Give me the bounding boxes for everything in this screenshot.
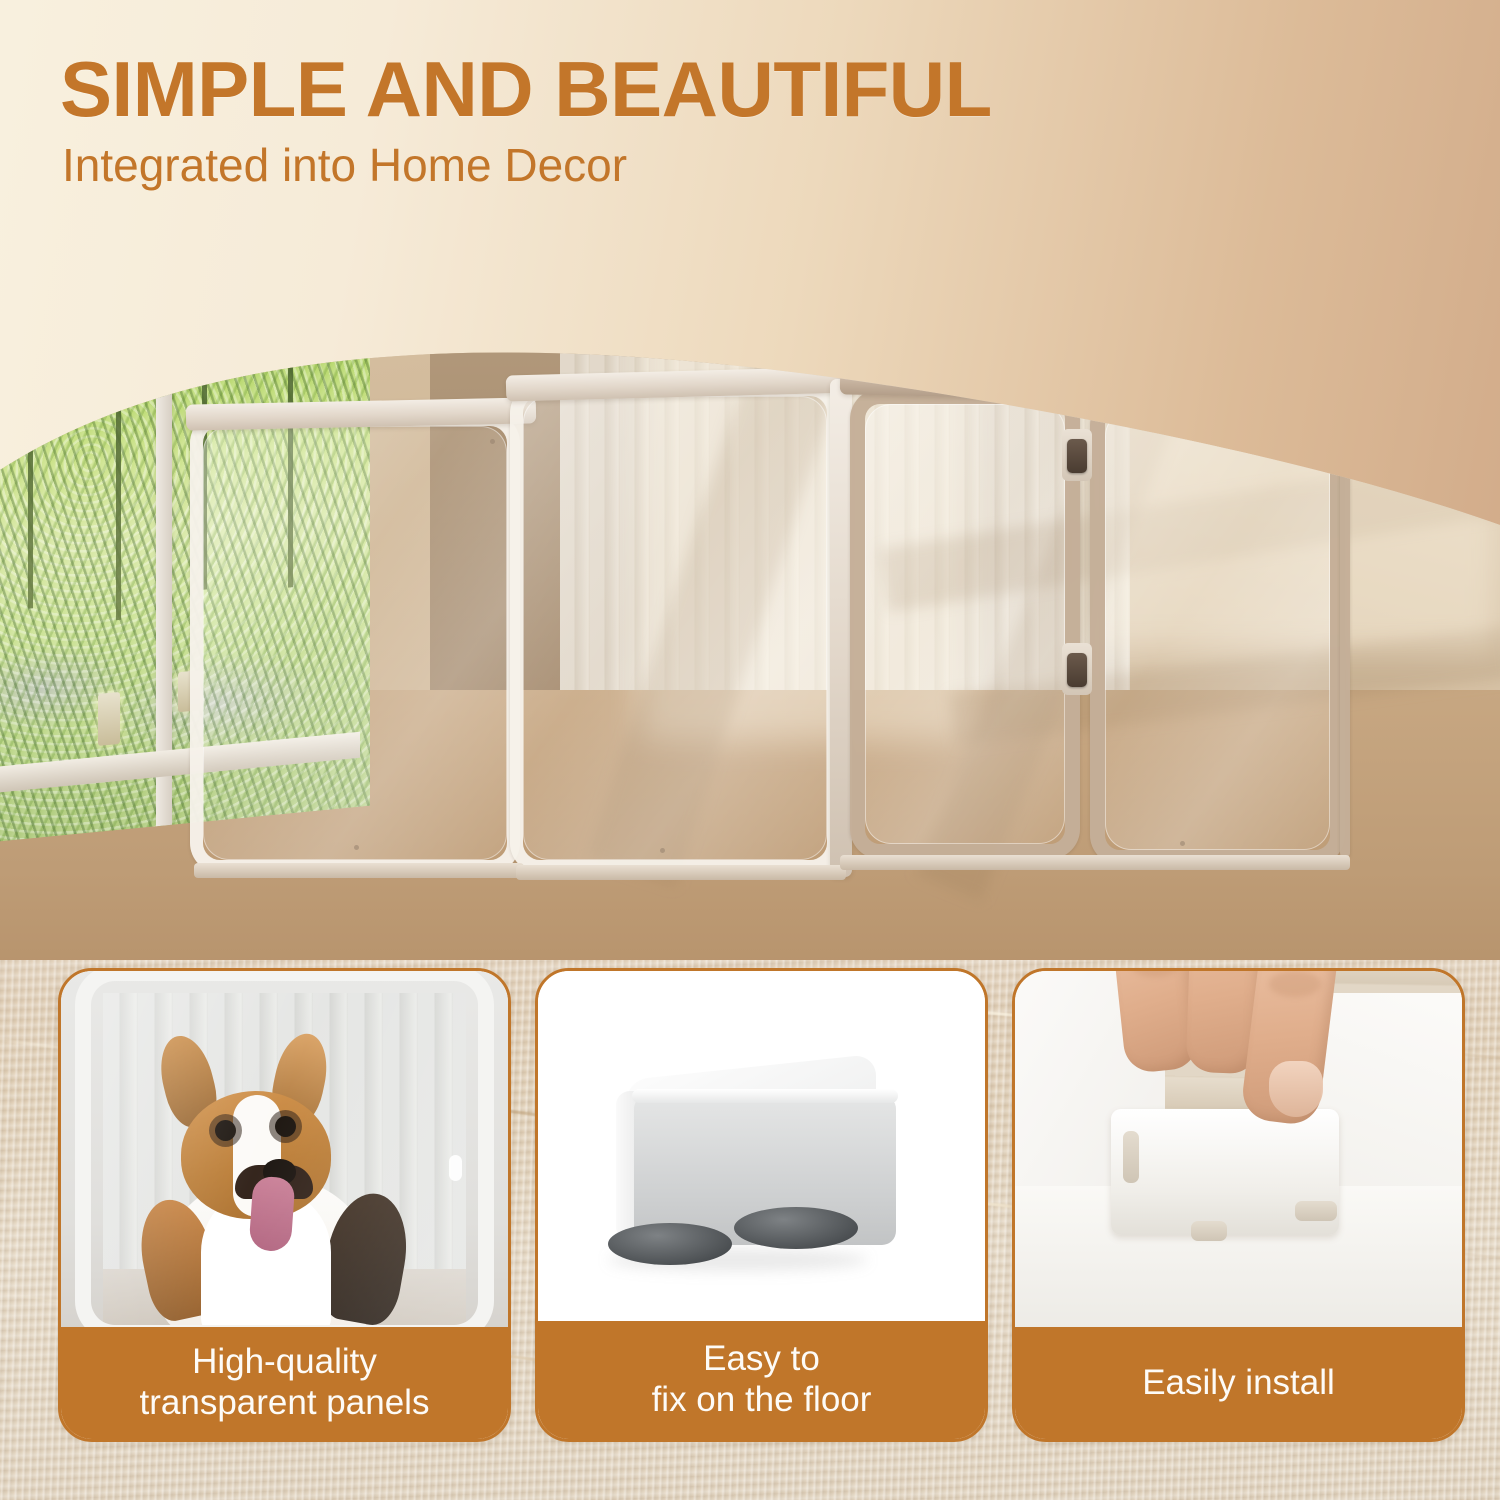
playpen-base-rail-right [840,855,1350,870]
feature-caption-1: High-quality transparent panels [61,1327,508,1439]
garden-lamp-icon [98,692,120,746]
playpen-panel-far-right [1340,403,1350,858]
playpen-top-rail-door [1084,376,1360,409]
caption-line-1: Easy to [703,1339,820,1378]
caption-line-1: High-quality [192,1342,377,1381]
feature-card-floor-fixing[interactable]: Easy to fix on the floor [535,968,988,1442]
feature-card-easy-install[interactable]: Easily install [1012,968,1465,1442]
page-headline: SIMPLE AND BEAUTIFUL [60,50,992,128]
floor-bracket-photo [538,971,985,1329]
install-hand-photo [1015,971,1462,1329]
product-infographic-canvas: SIMPLE AND BEAUTIFUL Integrated into Hom… [0,0,1500,1500]
door-latch-upper[interactable] [1067,439,1087,473]
playpen-base-rail-left [194,863,524,878]
pet-playpen-product [190,365,1350,910]
suction-cup-left [608,1223,732,1265]
feature-cards-row: High-quality transparent panels Easy to [0,968,1500,1438]
feature-card-transparent-panels[interactable]: High-quality transparent panels [58,968,511,1442]
panel-knob-icon [449,1155,462,1181]
playpen-top-rail-rear [840,368,1090,399]
corgi-photo [61,971,508,1329]
page-subheadline: Integrated into Home Decor [62,142,627,188]
feature-caption-2: Easy to fix on the floor [538,1321,985,1439]
playpen-corner-post [830,379,852,877]
bracket-top-lip [632,1089,898,1103]
caption-line-2: transparent panels [140,1383,430,1422]
hero-arched-photo [0,170,1500,960]
playpen-top-rail-far-right [1290,386,1361,414]
door-latch-lower[interactable] [1067,653,1087,687]
hero-room-scene [0,170,1500,960]
caption-line-1: Easily install [1142,1363,1335,1404]
panel-white-frame [75,971,494,1329]
hand-icon [1103,971,1383,1159]
feature-caption-3: Easily install [1015,1327,1462,1439]
caption-line-2: fix on the floor [652,1380,872,1419]
suction-cup-right [734,1207,858,1249]
fingernail [1269,1061,1323,1117]
playpen-base-rail-middle [516,865,846,880]
